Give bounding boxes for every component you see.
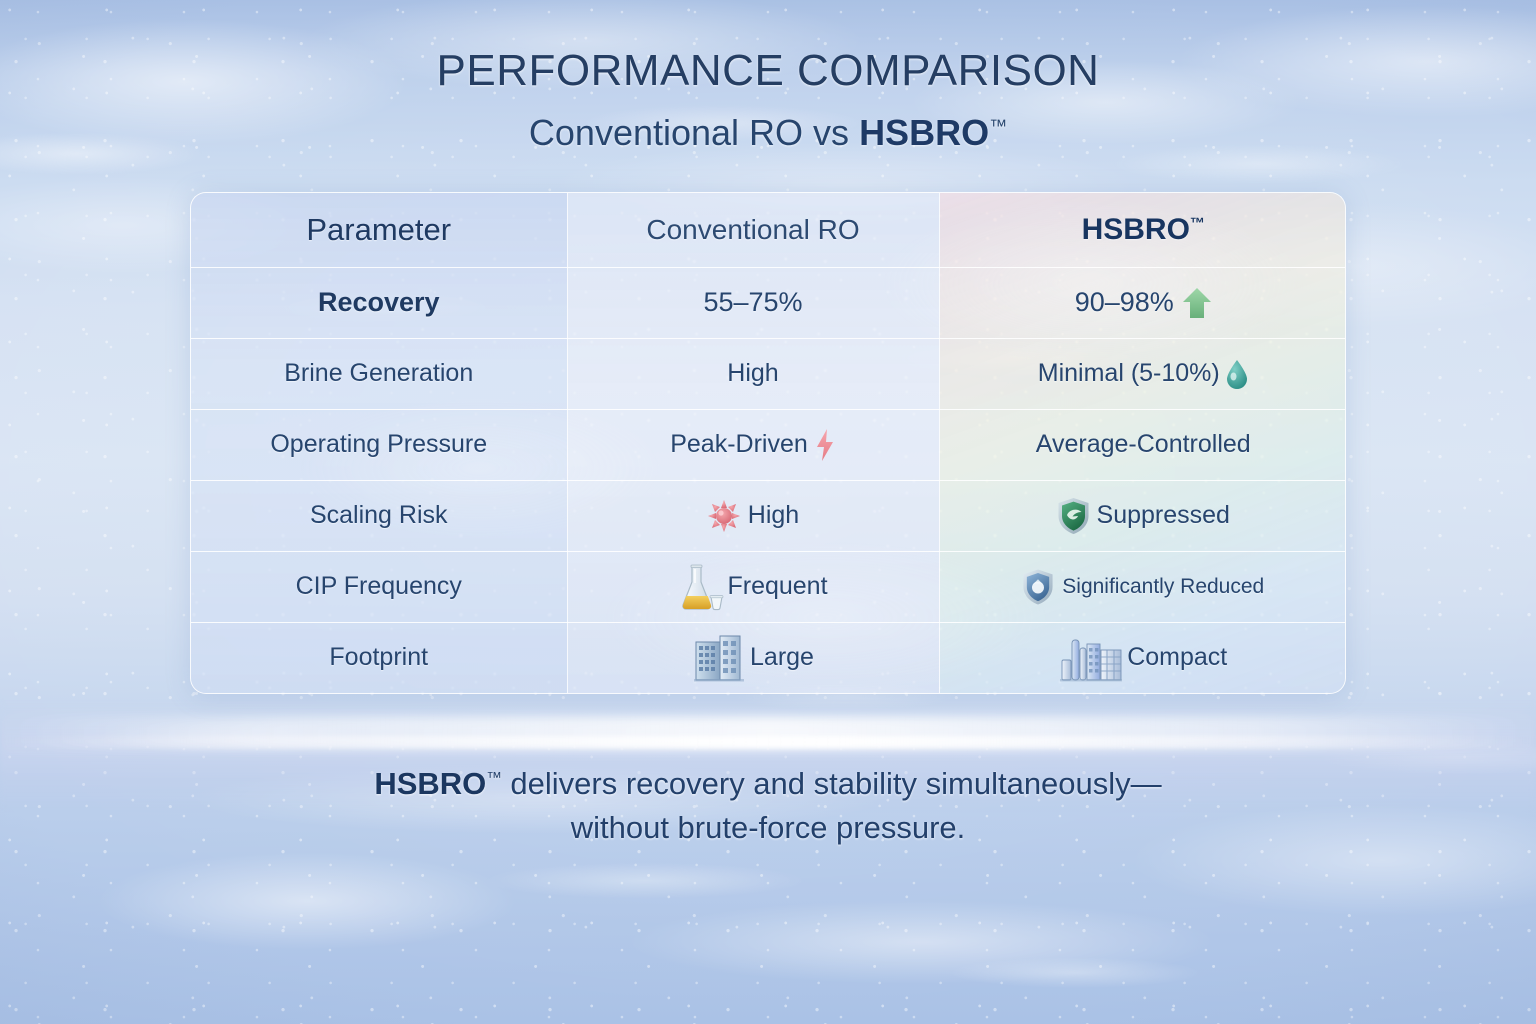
water-droplet-icon [1225, 359, 1249, 389]
table-row: Scaling Risk [191, 480, 1346, 551]
office-buildings-icon [692, 634, 746, 682]
cell-value: High [748, 502, 799, 530]
slide-canvas: PERFORMANCE COMPARISON Conventional RO v… [0, 0, 1536, 1024]
row-label-cip-frequency: CIP Frequency [191, 551, 567, 622]
row-label-recovery: Recovery [191, 267, 567, 338]
cell-cip-conventional: Frequent [567, 551, 939, 622]
table-row: Brine Generation High Minimal (5-10%) [191, 338, 1346, 409]
cell-brine-hsbro: Minimal (5-10%) [939, 338, 1346, 409]
cell-value: Peak-Driven [670, 431, 808, 459]
cell-pressure-hsbro: Average-Controlled [939, 409, 1346, 480]
flask-icon [678, 563, 724, 611]
caption-line-1: HSBRO™ delivers recovery and stability s… [0, 762, 1536, 806]
cell-value: Significantly Reduced [1062, 575, 1264, 598]
cell-scaling-conventional: High [567, 480, 939, 551]
row-label-brine-generation: Brine Generation [191, 338, 567, 409]
subtitle-brand: HSBRO [859, 112, 989, 153]
subtitle-prefix: Conventional RO vs [529, 112, 859, 153]
column-header-conventional-ro: Conventional RO [567, 193, 939, 267]
cell-pressure-conventional: Peak-Driven [567, 409, 939, 480]
table-header-row: Parameter Conventional RO HSBRO™ [191, 193, 1346, 267]
cell-value: Average-Controlled [1036, 431, 1251, 459]
cell-footprint-hsbro: Compact [939, 622, 1346, 693]
summary-caption: HSBRO™ delivers recovery and stability s… [0, 762, 1536, 850]
table-row: Recovery 55–75% 90–98% [191, 267, 1346, 338]
caption-line-1-text: delivers recovery and stability simultan… [502, 766, 1162, 801]
trademark-symbol: ™ [989, 116, 1007, 136]
cell-value: 55–75% [703, 288, 802, 318]
industrial-plant-icon [1059, 634, 1123, 682]
up-arrow-icon [1182, 287, 1212, 319]
page-title: PERFORMANCE COMPARISON [0, 46, 1536, 96]
trademark-symbol: ™ [486, 770, 502, 787]
cell-recovery-conventional: 55–75% [567, 267, 939, 338]
row-label-footprint: Footprint [191, 622, 567, 693]
column-header-hsbro-label: HSBRO [1082, 213, 1190, 246]
caption-line-2: without brute-force pressure. [0, 806, 1536, 850]
cell-value: Large [750, 644, 814, 672]
page-subtitle: Conventional RO vs HSBRO™ [0, 112, 1536, 154]
lightning-bolt-icon [814, 428, 836, 462]
table-row: Operating Pressure Peak-Driven [191, 409, 1346, 480]
column-header-parameter: Parameter [191, 193, 567, 267]
column-header-hsbro: HSBRO™ [939, 193, 1346, 267]
blue-shield-icon [1022, 568, 1054, 606]
cell-footprint-conventional: Large [567, 622, 939, 693]
horizon-glow-core [0, 736, 1536, 748]
cell-value: Compact [1127, 644, 1227, 672]
trademark-symbol: ™ [1190, 215, 1205, 232]
comparison-table-card: Parameter Conventional RO HSBRO™ Recover… [190, 192, 1346, 694]
table-header: Parameter Conventional RO HSBRO™ [191, 193, 1346, 267]
heading-block: PERFORMANCE COMPARISON Conventional RO v… [0, 46, 1536, 154]
table-row: CIP Frequency [191, 551, 1346, 622]
green-shield-icon [1057, 497, 1090, 535]
cell-scaling-hsbro: Suppressed [939, 480, 1346, 551]
row-label-operating-pressure: Operating Pressure [191, 409, 567, 480]
cell-value: Suppressed [1097, 502, 1230, 530]
cell-brine-conventional: High [567, 338, 939, 409]
cell-value: High [727, 360, 778, 388]
crystal-cluster-icon [707, 499, 741, 533]
caption-brand: HSBRO [374, 766, 486, 801]
cell-value: 90–98% [1075, 288, 1174, 318]
cell-recovery-hsbro: 90–98% [939, 267, 1346, 338]
cell-cip-hsbro: Significantly Reduced [939, 551, 1346, 622]
cell-value: Frequent [727, 573, 827, 601]
table-body: Recovery 55–75% 90–98% [191, 267, 1346, 693]
cell-value: Minimal (5-10%) [1038, 360, 1220, 388]
table-row: Footprint [191, 622, 1346, 693]
comparison-table: Parameter Conventional RO HSBRO™ Recover… [191, 193, 1346, 693]
row-label-scaling-risk: Scaling Risk [191, 480, 567, 551]
